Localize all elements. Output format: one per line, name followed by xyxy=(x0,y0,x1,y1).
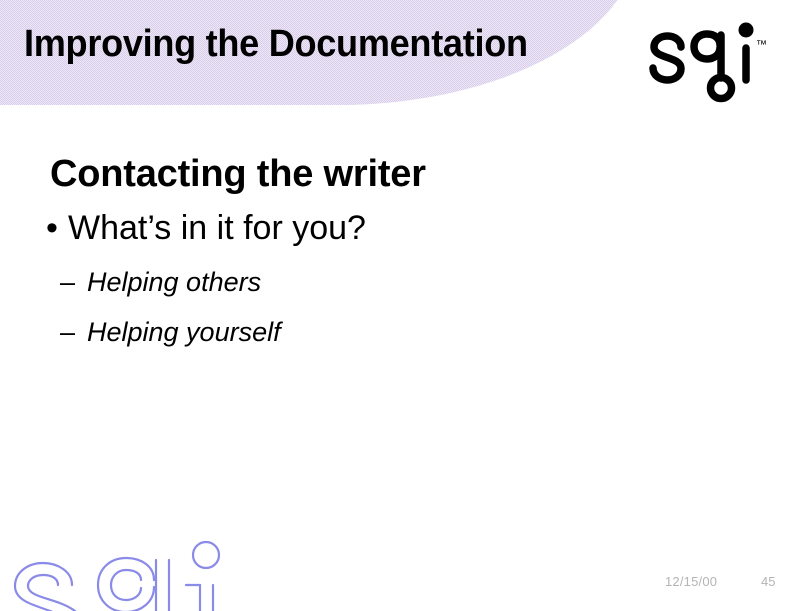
sub-bullet-text: Helping yourself xyxy=(87,310,281,354)
sub-bullet-dash-icon: – xyxy=(60,260,87,304)
sub-bullet-text: Helping others xyxy=(87,260,261,304)
bullet-text: What’s in it for you? xyxy=(68,204,366,252)
sub-bullet-item: – Helping yourself xyxy=(60,310,791,354)
slide-body: Contacting the writer • What’s in it for… xyxy=(0,150,791,360)
sub-bullet-dash-icon: – xyxy=(60,310,87,354)
bullet-marker-icon: • xyxy=(46,204,68,252)
page-title: Improving the Documentation xyxy=(24,22,528,66)
footer-page-number: 45 xyxy=(761,574,775,589)
body-heading: Contacting the writer xyxy=(50,150,791,198)
sgi-watermark xyxy=(0,533,224,611)
sgi-logo: ™ xyxy=(648,18,778,104)
footer-date: 12/15/00 xyxy=(665,574,717,589)
slide-canvas: Improving the Documentation ™ Contacting xyxy=(0,0,791,611)
sub-bullet-item: – Helping others xyxy=(60,260,791,304)
bullet-item: • What’s in it for you? xyxy=(46,204,791,252)
svg-text:™: ™ xyxy=(756,39,767,51)
